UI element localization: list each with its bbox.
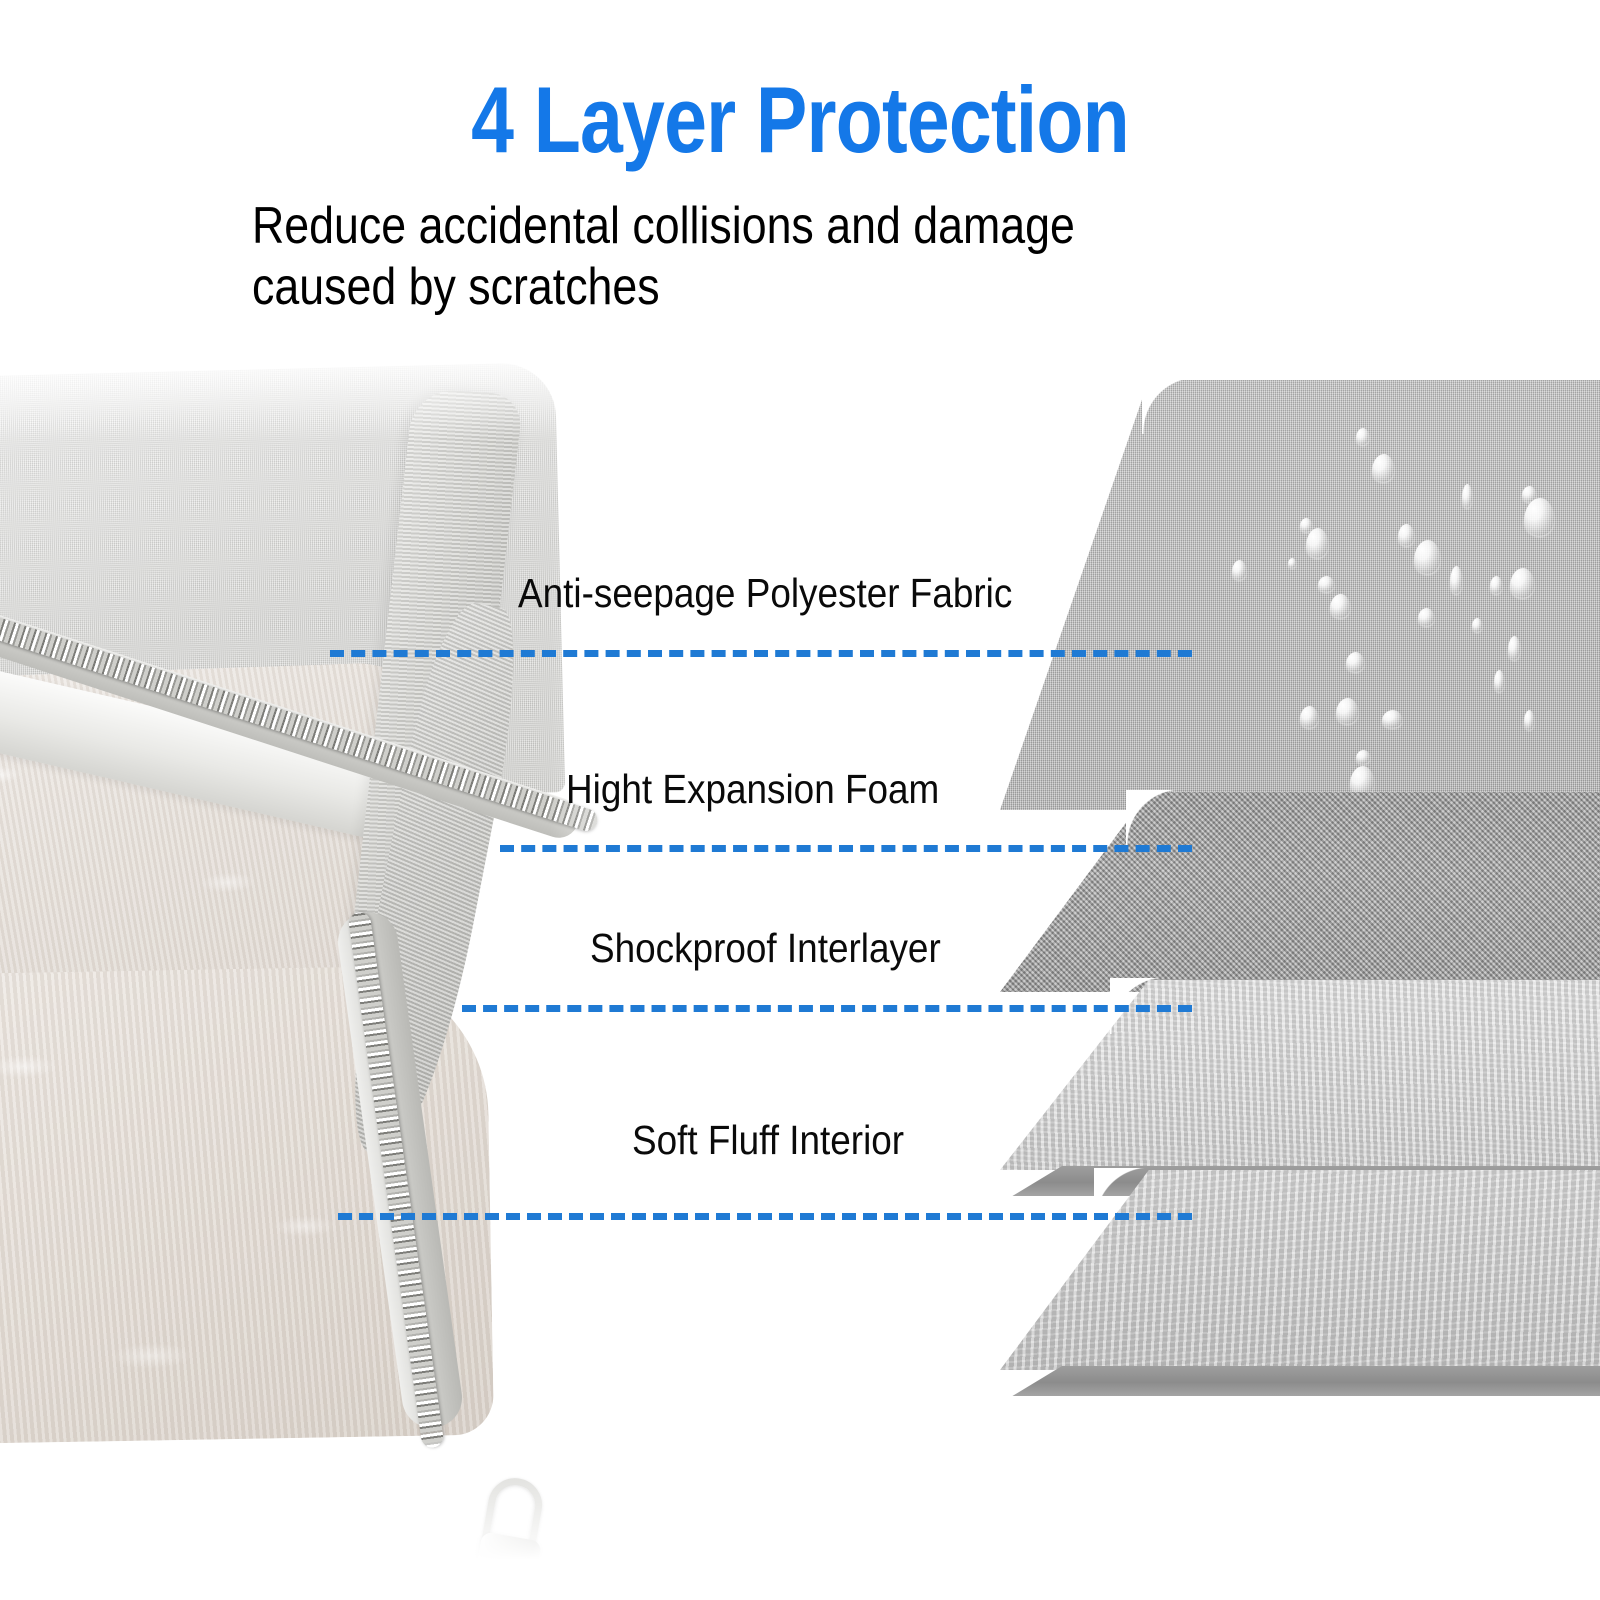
- callout-leader-line-4: [338, 1213, 1192, 1220]
- callout-leader-line-3: [462, 1005, 1192, 1012]
- slab-corner-mask: [1126, 790, 1182, 846]
- slab-corner-mask: [1142, 378, 1198, 434]
- expansion-foam-slab: [1000, 792, 1600, 992]
- expansion-foam-layer: [1000, 792, 1600, 992]
- polyester-fabric-layer: [1000, 380, 1600, 810]
- material-layer-stack: [1000, 380, 1600, 1340]
- subtitle-line-2: caused by scratches: [252, 257, 1267, 318]
- page-subtitle: Reduce accidental collisions and damage …: [252, 196, 1267, 319]
- photo-fade-bottom: [0, 1440, 740, 1560]
- callout-leader-line-2: [500, 845, 1192, 852]
- page-title: 4 Layer Protection: [144, 72, 1456, 168]
- soft-fluff-interior-layer: [1000, 1170, 1600, 1370]
- callout-leader-line-1: [330, 650, 1192, 657]
- callout-label-layer-1: Anti-seepage Polyester Fabric: [518, 570, 1012, 617]
- polyester-fabric-slab: [1000, 380, 1600, 810]
- header: 4 Layer Protection Reduce accidental col…: [0, 0, 1600, 360]
- callout-label-layer-3: Shockproof Interlayer: [590, 925, 941, 972]
- callout-label-layer-4: Soft Fluff Interior: [632, 1117, 904, 1164]
- subtitle-line-1: Reduce accidental collisions and damage: [252, 196, 1267, 257]
- callout-label-layer-2: Hight Expansion Foam: [566, 766, 939, 813]
- slab-edge-thickness: [1000, 1366, 1600, 1396]
- soft-fluff-interior-slab: [1000, 1170, 1600, 1370]
